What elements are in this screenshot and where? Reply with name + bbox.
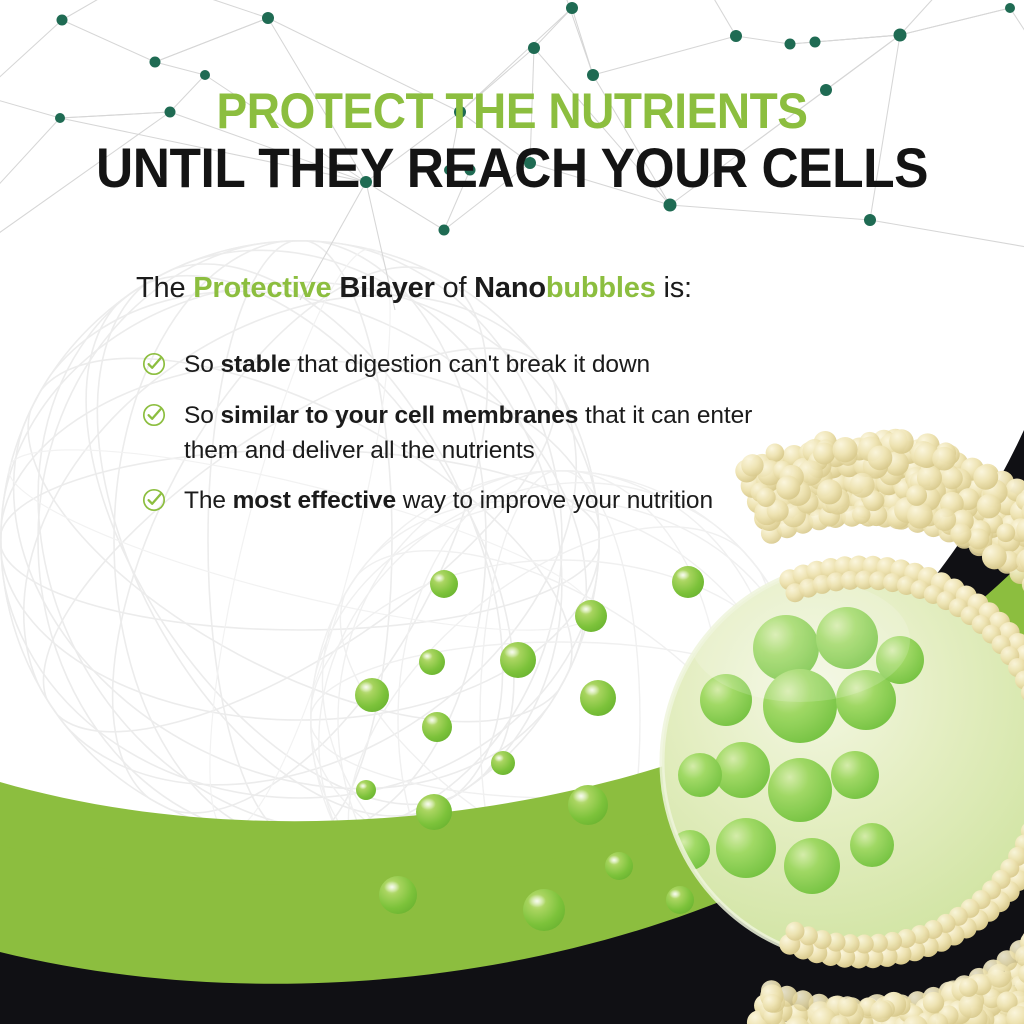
bullet-1-pre: So (184, 351, 220, 378)
intro-bubbles: bubbles (546, 272, 656, 304)
intro-line: The Protective Bilayer of Nanobubbles is… (136, 272, 692, 305)
list-item: So similar to your cell membranes that i… (142, 399, 842, 469)
list-item: The most effective way to improve your n… (142, 484, 842, 519)
intro-protective: Protective (193, 272, 331, 304)
list-item: So stable that digestion can't break it … (142, 348, 842, 383)
bullet-2-bold: similar to your cell membranes (220, 402, 578, 429)
bullet-1-post: that digestion can't break it down (291, 351, 650, 378)
list-item-text: So similar to your cell membranes that i… (184, 399, 794, 469)
intro-part-1: The (136, 272, 193, 304)
bullet-3-bold: most effective (233, 487, 396, 514)
check-circle-icon (142, 352, 166, 376)
intro-nano: Nano (474, 272, 546, 304)
poster-canvas: PROTECT THE NUTRIENTS UNTIL THEY REACH Y… (0, 0, 1024, 1024)
list-item-text: So stable that digestion can't break it … (184, 348, 650, 383)
page-title-line-1: PROTECT THE NUTRIENTS (41, 86, 983, 137)
list-item-text: The most effective way to improve your n… (184, 484, 713, 519)
bullet-3-post: way to improve your nutrition (396, 487, 713, 514)
poster-content: PROTECT THE NUTRIENTS UNTIL THEY REACH Y… (0, 0, 1024, 1024)
bullet-1-bold: stable (220, 351, 290, 378)
benefit-list: So stable that digestion can't break it … (142, 348, 842, 535)
check-circle-icon (142, 403, 166, 427)
bullet-3-pre: The (184, 487, 233, 514)
bullet-2-pre: So (184, 402, 220, 429)
headline-block: PROTECT THE NUTRIENTS UNTIL THEY REACH Y… (0, 86, 1024, 196)
check-circle-icon (142, 488, 166, 512)
intro-part-2: of (435, 272, 475, 304)
intro-bilayer: Bilayer (339, 272, 434, 304)
intro-part-3: is: (656, 272, 692, 304)
page-title-line-2: UNTIL THEY REACH YOUR CELLS (41, 139, 983, 196)
